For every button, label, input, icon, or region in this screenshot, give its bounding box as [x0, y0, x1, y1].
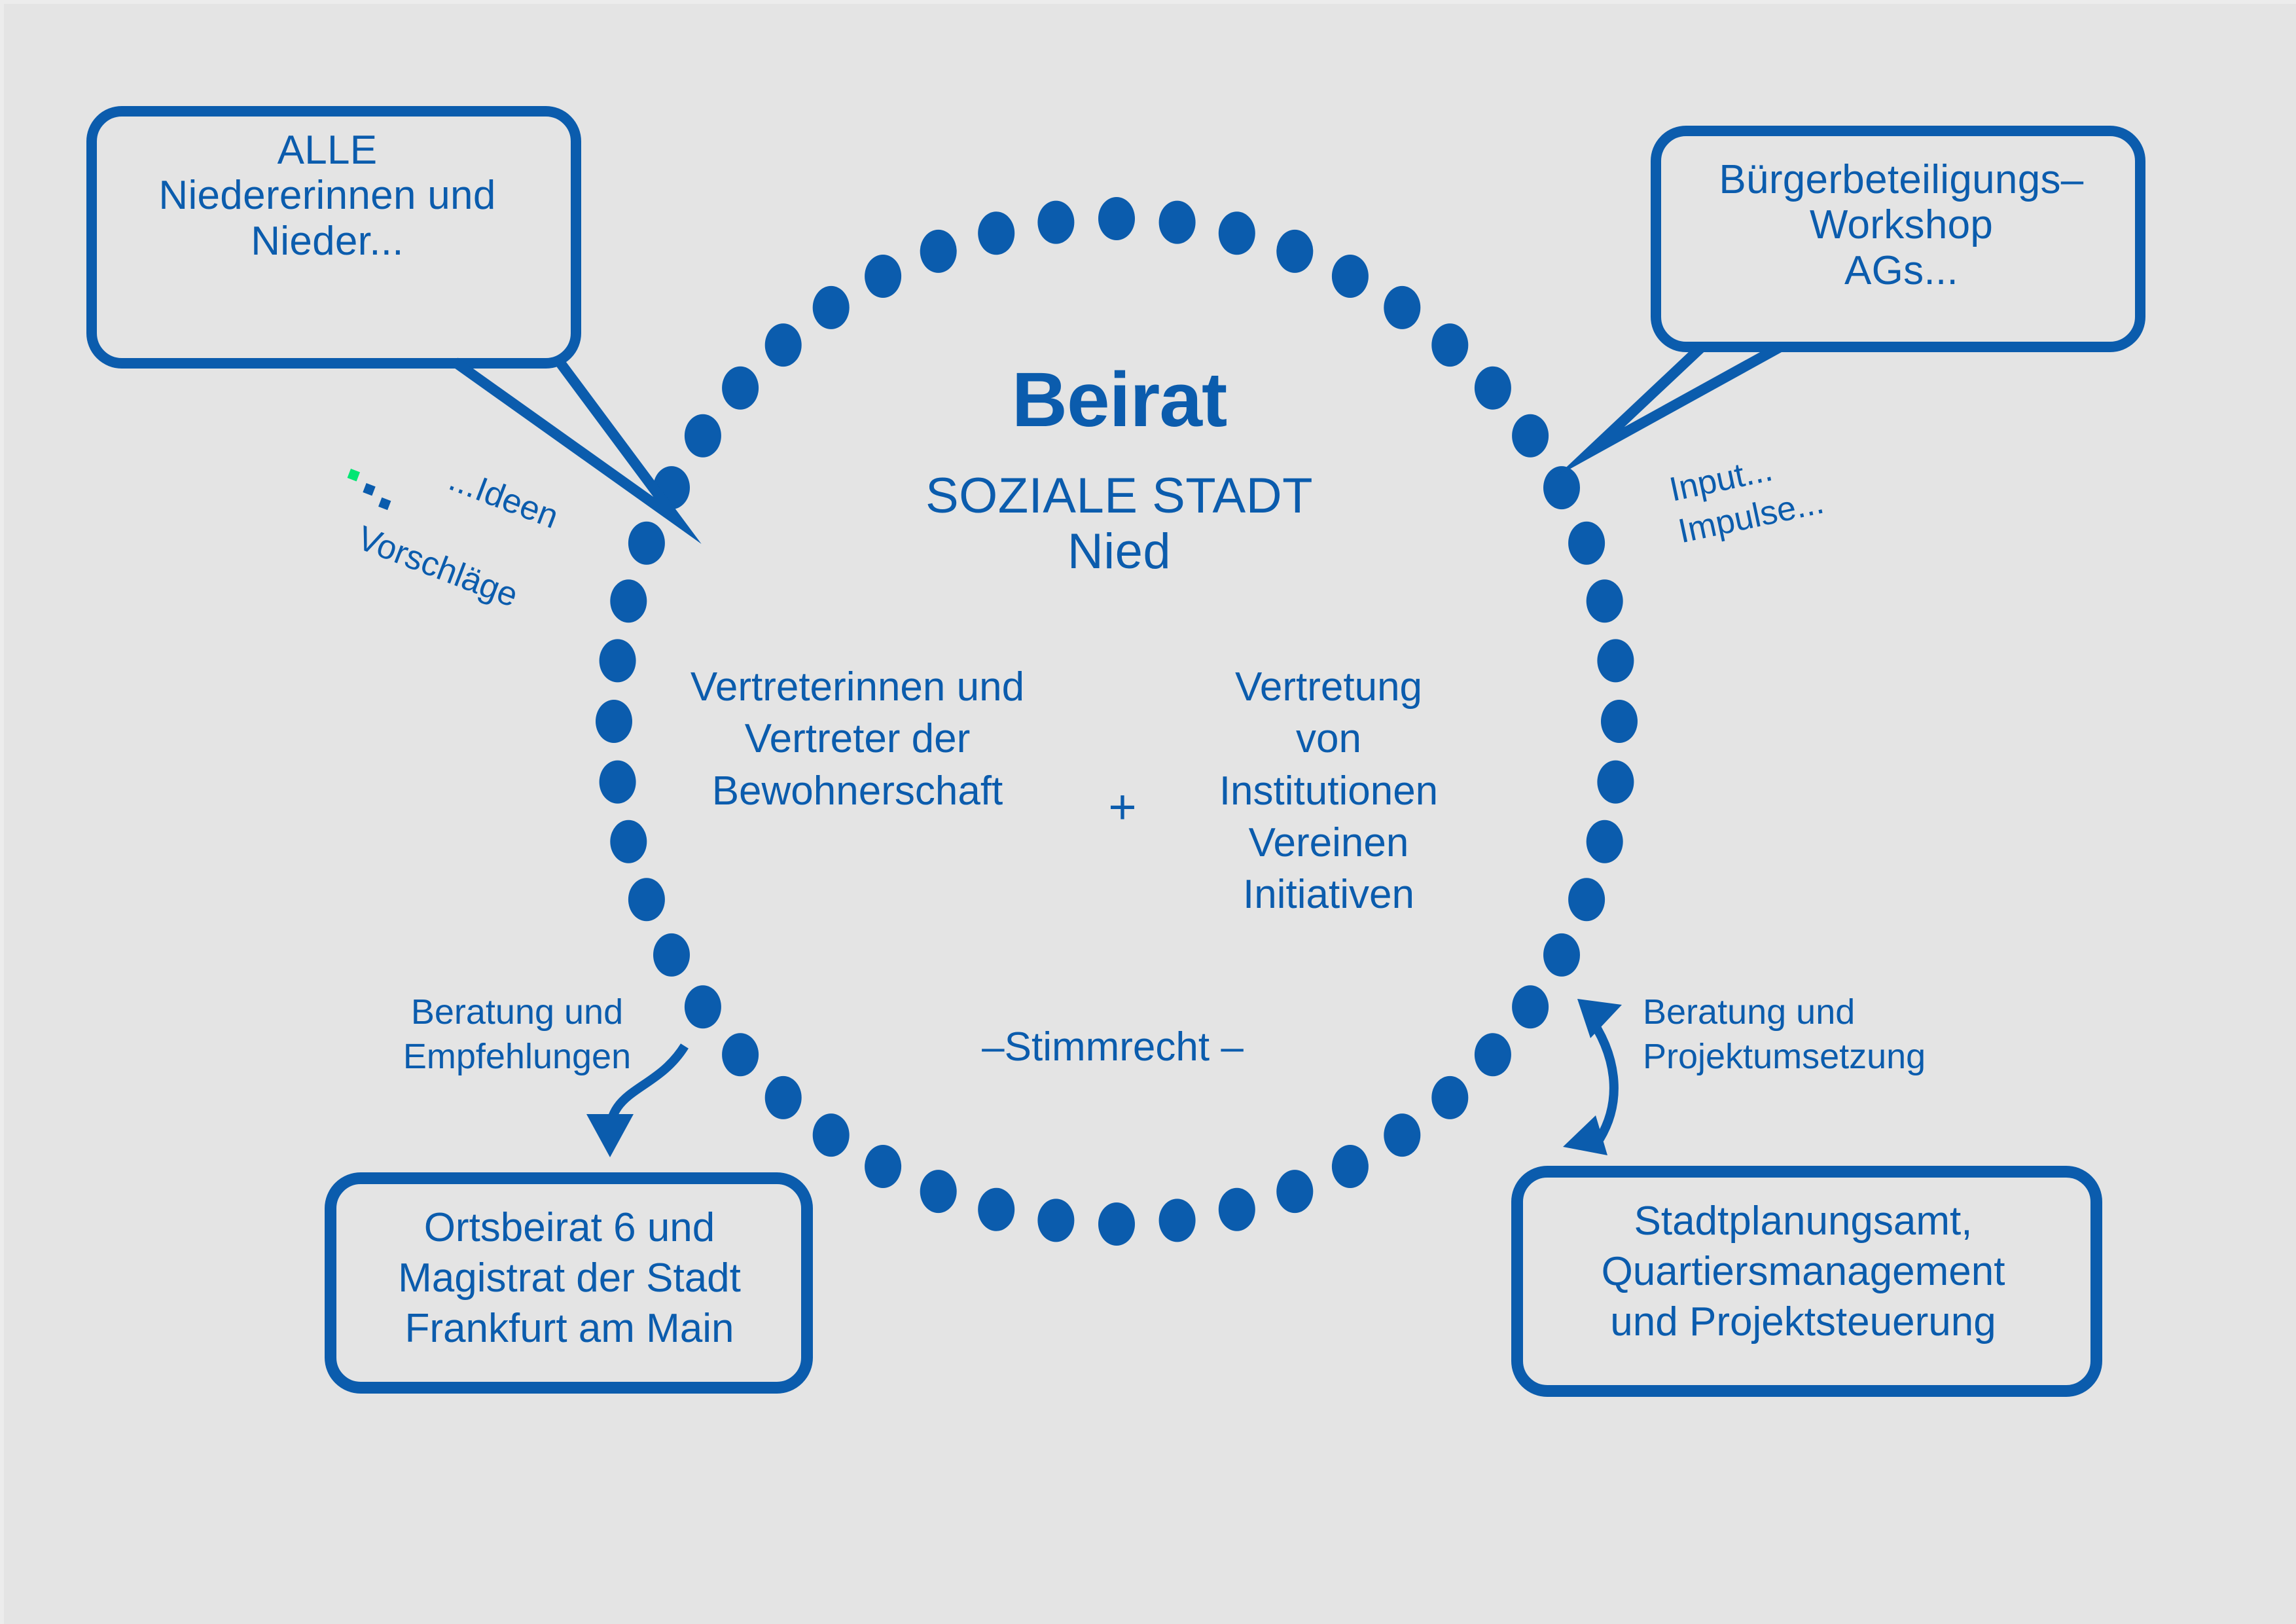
ring-dot: [1332, 1145, 1369, 1188]
ring-dot: [610, 820, 647, 863]
ring-dot: [1159, 201, 1196, 244]
members-column-institutions: Vertretung von Institutionen Vereinen In…: [1198, 661, 1460, 921]
ring-dot: [1543, 933, 1580, 977]
ring-dot: [813, 1113, 850, 1157]
ring-dot: [1219, 211, 1255, 255]
ring-dot: [1601, 700, 1638, 743]
ring-dot: [1512, 985, 1549, 1028]
ring-dot: [865, 1145, 901, 1188]
ring-dot: [628, 878, 665, 921]
ring-dot: [610, 579, 647, 623]
ring-dot: [920, 230, 957, 273]
diagram-canvas: ALLE Niedererinnen und Nieder... Bürgerb…: [0, 0, 2296, 1624]
ring-dot: [1276, 1170, 1313, 1213]
ring-dot: [920, 1170, 957, 1213]
page-subtitle: SOZIALE STADTNied: [772, 468, 1466, 579]
ring-dot: [1159, 1199, 1196, 1242]
box-bottom-right-label: Stadtplanungsamt, Quartiersmanagement un…: [1518, 1197, 2088, 1348]
box-bottom-left-label: Ortsbeirat 6 und Magistrat der Stadt Fra…: [340, 1203, 798, 1354]
ring-dot: [685, 414, 721, 458]
ring-dot: [1384, 1113, 1420, 1157]
ring-dot: [685, 985, 721, 1028]
ring-dot: [765, 1076, 802, 1119]
page-subtitle-line1: SOZIALE STADT: [925, 468, 1313, 524]
page-subtitle-line2: Nied: [772, 524, 1466, 579]
ring-dot: [1587, 579, 1623, 623]
members-column-residents: Vertreterinnen und Vertreter der Bewohne…: [687, 661, 1028, 817]
annotation-beratung-empfehlungen: Beratung und Empfehlungen: [380, 990, 655, 1079]
ring-dot: [1597, 761, 1634, 804]
ring-dot: [600, 761, 636, 804]
ring-dot: [978, 1188, 1014, 1231]
ring-dot: [722, 1033, 759, 1076]
ring-dot: [628, 522, 665, 565]
speech-bubble-top-left-label: ALLE Niedererinnen und Nieder...: [92, 128, 563, 264]
ring-dot: [1384, 286, 1420, 329]
ring-dot: [1475, 367, 1511, 410]
voting-rights-note: –Stimmrecht –: [903, 1024, 1322, 1070]
ring-dot: [1037, 201, 1074, 244]
ring-dot: [722, 367, 759, 410]
ring-dot: [1512, 414, 1549, 458]
arrow-beratung-projektumsetzung: [1563, 999, 1622, 1155]
ring-dot: [653, 933, 690, 977]
ring-dot: [813, 286, 850, 329]
page-title: Beirat: [772, 357, 1466, 443]
ring-dot: [1587, 820, 1623, 863]
ring-dot: [600, 639, 636, 682]
speech-bubble-top-right-label: Bürgerbeteiligungs– Workshop AGs...: [1666, 157, 2137, 293]
ring-dot: [1098, 197, 1135, 240]
ring-dot: [1568, 522, 1605, 565]
ring-dot: [978, 211, 1014, 255]
ring-dot: [1098, 1202, 1135, 1246]
plus-operator: +: [1073, 779, 1172, 835]
ring-dot: [1568, 878, 1605, 921]
ring-dot: [1332, 255, 1369, 298]
ring-dot: [1219, 1188, 1255, 1231]
ring-dot: [1037, 1199, 1074, 1242]
ring-dot: [1276, 230, 1313, 273]
ring-dot: [865, 255, 901, 298]
annotation-beratung-projektumsetzung: Beratung und Projektumsetzung: [1643, 990, 1970, 1079]
ring-dot: [1475, 1033, 1511, 1076]
bubble-top-right-tail: [1590, 347, 1780, 452]
ring-dot: [596, 700, 632, 743]
ring-dot: [1431, 1076, 1468, 1119]
ring-dot: [1597, 639, 1634, 682]
